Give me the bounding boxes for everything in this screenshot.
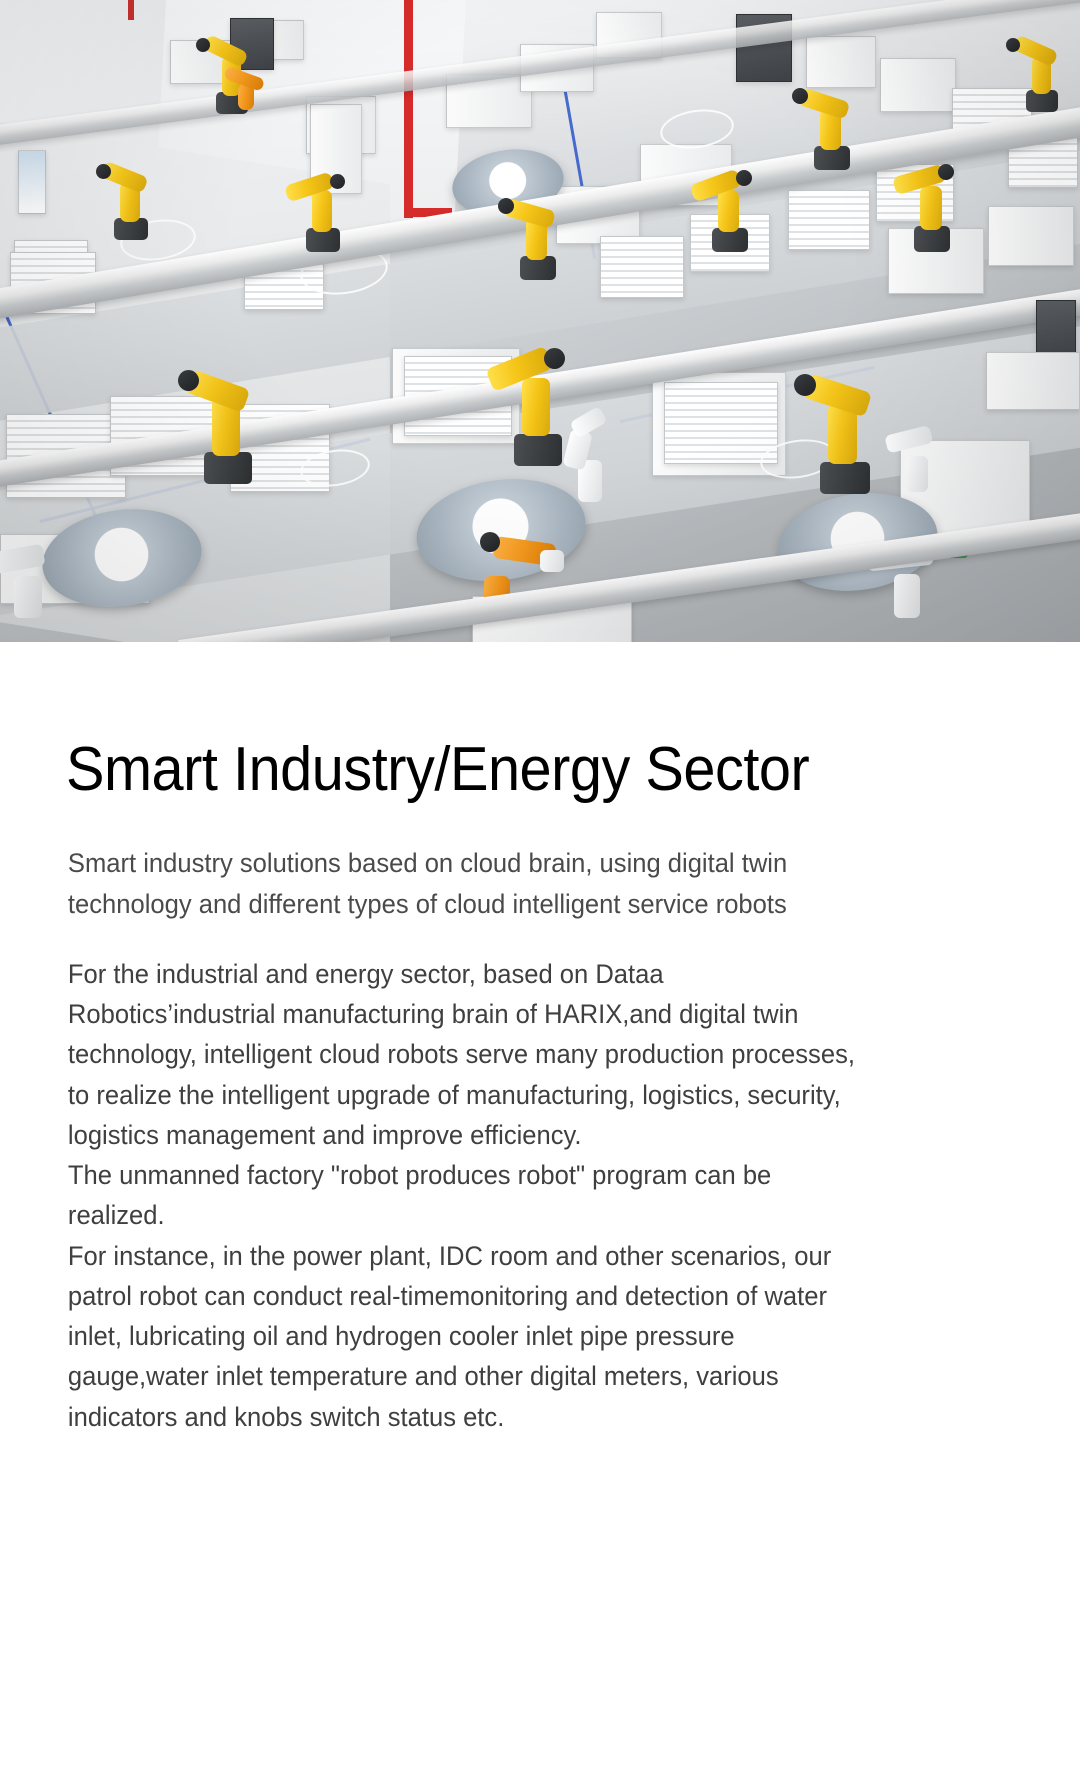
page-title: Smart Industry/Energy Sector <box>66 642 948 801</box>
robot-joint <box>96 164 111 179</box>
robot-joint <box>330 174 345 189</box>
robot-joint <box>794 374 816 396</box>
robot-lower-arm <box>894 574 920 618</box>
robot-joint <box>498 198 514 214</box>
robot-joint <box>178 370 199 391</box>
robot-arm-white <box>556 404 626 500</box>
robot-arm-yellow <box>794 372 894 496</box>
robot-lower-arm <box>718 190 739 232</box>
lede-paragraph: Smart industry solutions based on cloud … <box>66 843 867 924</box>
robot-arm-yellow <box>792 86 870 172</box>
robot-arm-yellow <box>1006 36 1076 114</box>
robot-lower-arm <box>522 378 550 436</box>
robot-lower-arm <box>312 190 332 232</box>
robot-base <box>820 462 870 494</box>
hero-image <box>0 0 1080 642</box>
robot-joint <box>480 532 500 552</box>
robot-arm-yellow <box>96 160 166 240</box>
robot-joint <box>938 164 954 180</box>
body-paragraph-2: The unmanned factory "robot produces rob… <box>68 1155 875 1236</box>
robot-joint <box>544 348 565 369</box>
robot-arm-yellow <box>690 168 768 254</box>
article-content: Smart Industry/Energy Sector Smart indus… <box>0 642 1080 1437</box>
red-marker-icon <box>128 0 134 20</box>
robot-arm-yellow <box>286 168 360 254</box>
workbench <box>986 352 1080 410</box>
robot-arm-yellow <box>498 196 576 282</box>
workbench <box>806 36 876 88</box>
robot-arm-white <box>0 530 80 618</box>
workbench <box>880 58 956 112</box>
robot-arm-orange <box>222 50 282 110</box>
parts-tray <box>600 236 684 298</box>
robot-arm-yellow <box>178 368 274 486</box>
body-copy: For the industrial and energy sector, ba… <box>66 954 875 1437</box>
robot-lower-arm <box>14 576 42 618</box>
robot-joint <box>736 170 752 186</box>
robot-lower-arm <box>906 456 928 492</box>
body-paragraph-1: For the industrial and energy sector, ba… <box>68 954 875 1155</box>
parts-tray <box>664 382 778 464</box>
workbench <box>988 206 1074 266</box>
robot-arm-yellow <box>890 162 970 254</box>
robot-base <box>514 434 562 466</box>
robot-joint <box>1006 38 1020 52</box>
robot-arm-white <box>884 412 960 492</box>
robot-gripper <box>540 550 564 572</box>
robot-upper-arm <box>884 425 933 454</box>
robot-upper-arm <box>0 544 46 575</box>
robot-base <box>204 452 252 484</box>
body-paragraph-3: For instance, in the power plant, IDC ro… <box>68 1236 875 1437</box>
red-post-icon <box>404 0 413 218</box>
wall-sign <box>18 150 46 214</box>
robot-joint <box>196 38 210 52</box>
parts-tray <box>788 190 870 250</box>
robot-joint <box>792 88 808 104</box>
factory-scene <box>0 0 1080 642</box>
robot-lower-arm <box>920 186 942 230</box>
